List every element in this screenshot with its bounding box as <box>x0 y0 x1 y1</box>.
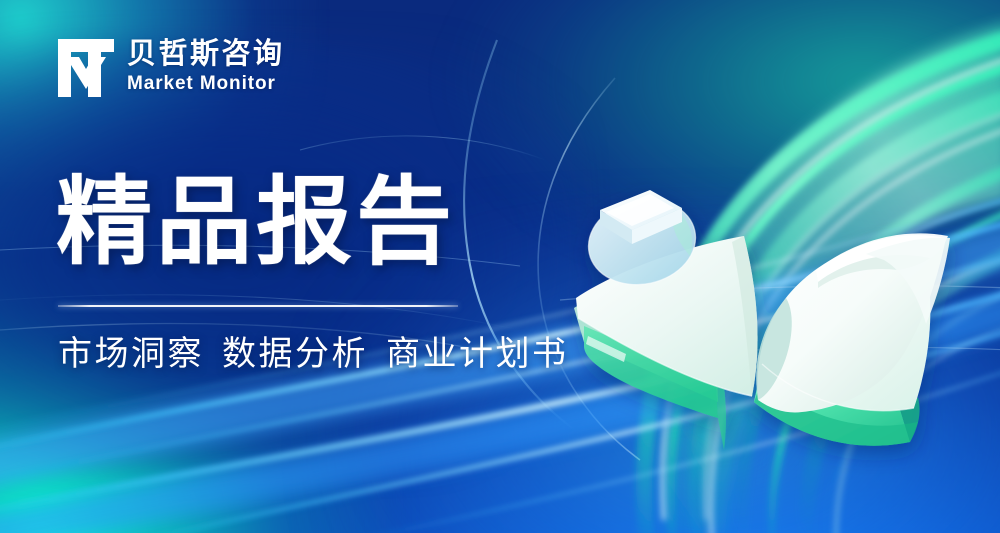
report-banner: 贝哲斯咨询 Market Monitor 精品报告 市场洞察数据分析商业计划书 <box>0 0 1000 533</box>
subtitle-item-market-insight: 市场洞察 <box>58 335 204 373</box>
title-divider <box>58 305 458 307</box>
subtitle-item-business-plan: 商业计划书 <box>386 335 569 373</box>
brand-name-chinese: 贝哲斯咨询 <box>127 38 285 70</box>
brand-logo[interactable]: 贝哲斯咨询 Market Monitor <box>58 38 285 97</box>
page-title: 精品报告 <box>56 172 456 274</box>
brand-logo-text: 贝哲斯咨询 Market Monitor <box>127 38 285 97</box>
market-monitor-m-icon <box>58 39 114 97</box>
brand-name-english: Market Monitor <box>127 72 285 97</box>
subtitle-item-data-analysis: 数据分析 <box>222 335 368 373</box>
subtitle: 市场洞察数据分析商业计划书 <box>58 332 569 378</box>
